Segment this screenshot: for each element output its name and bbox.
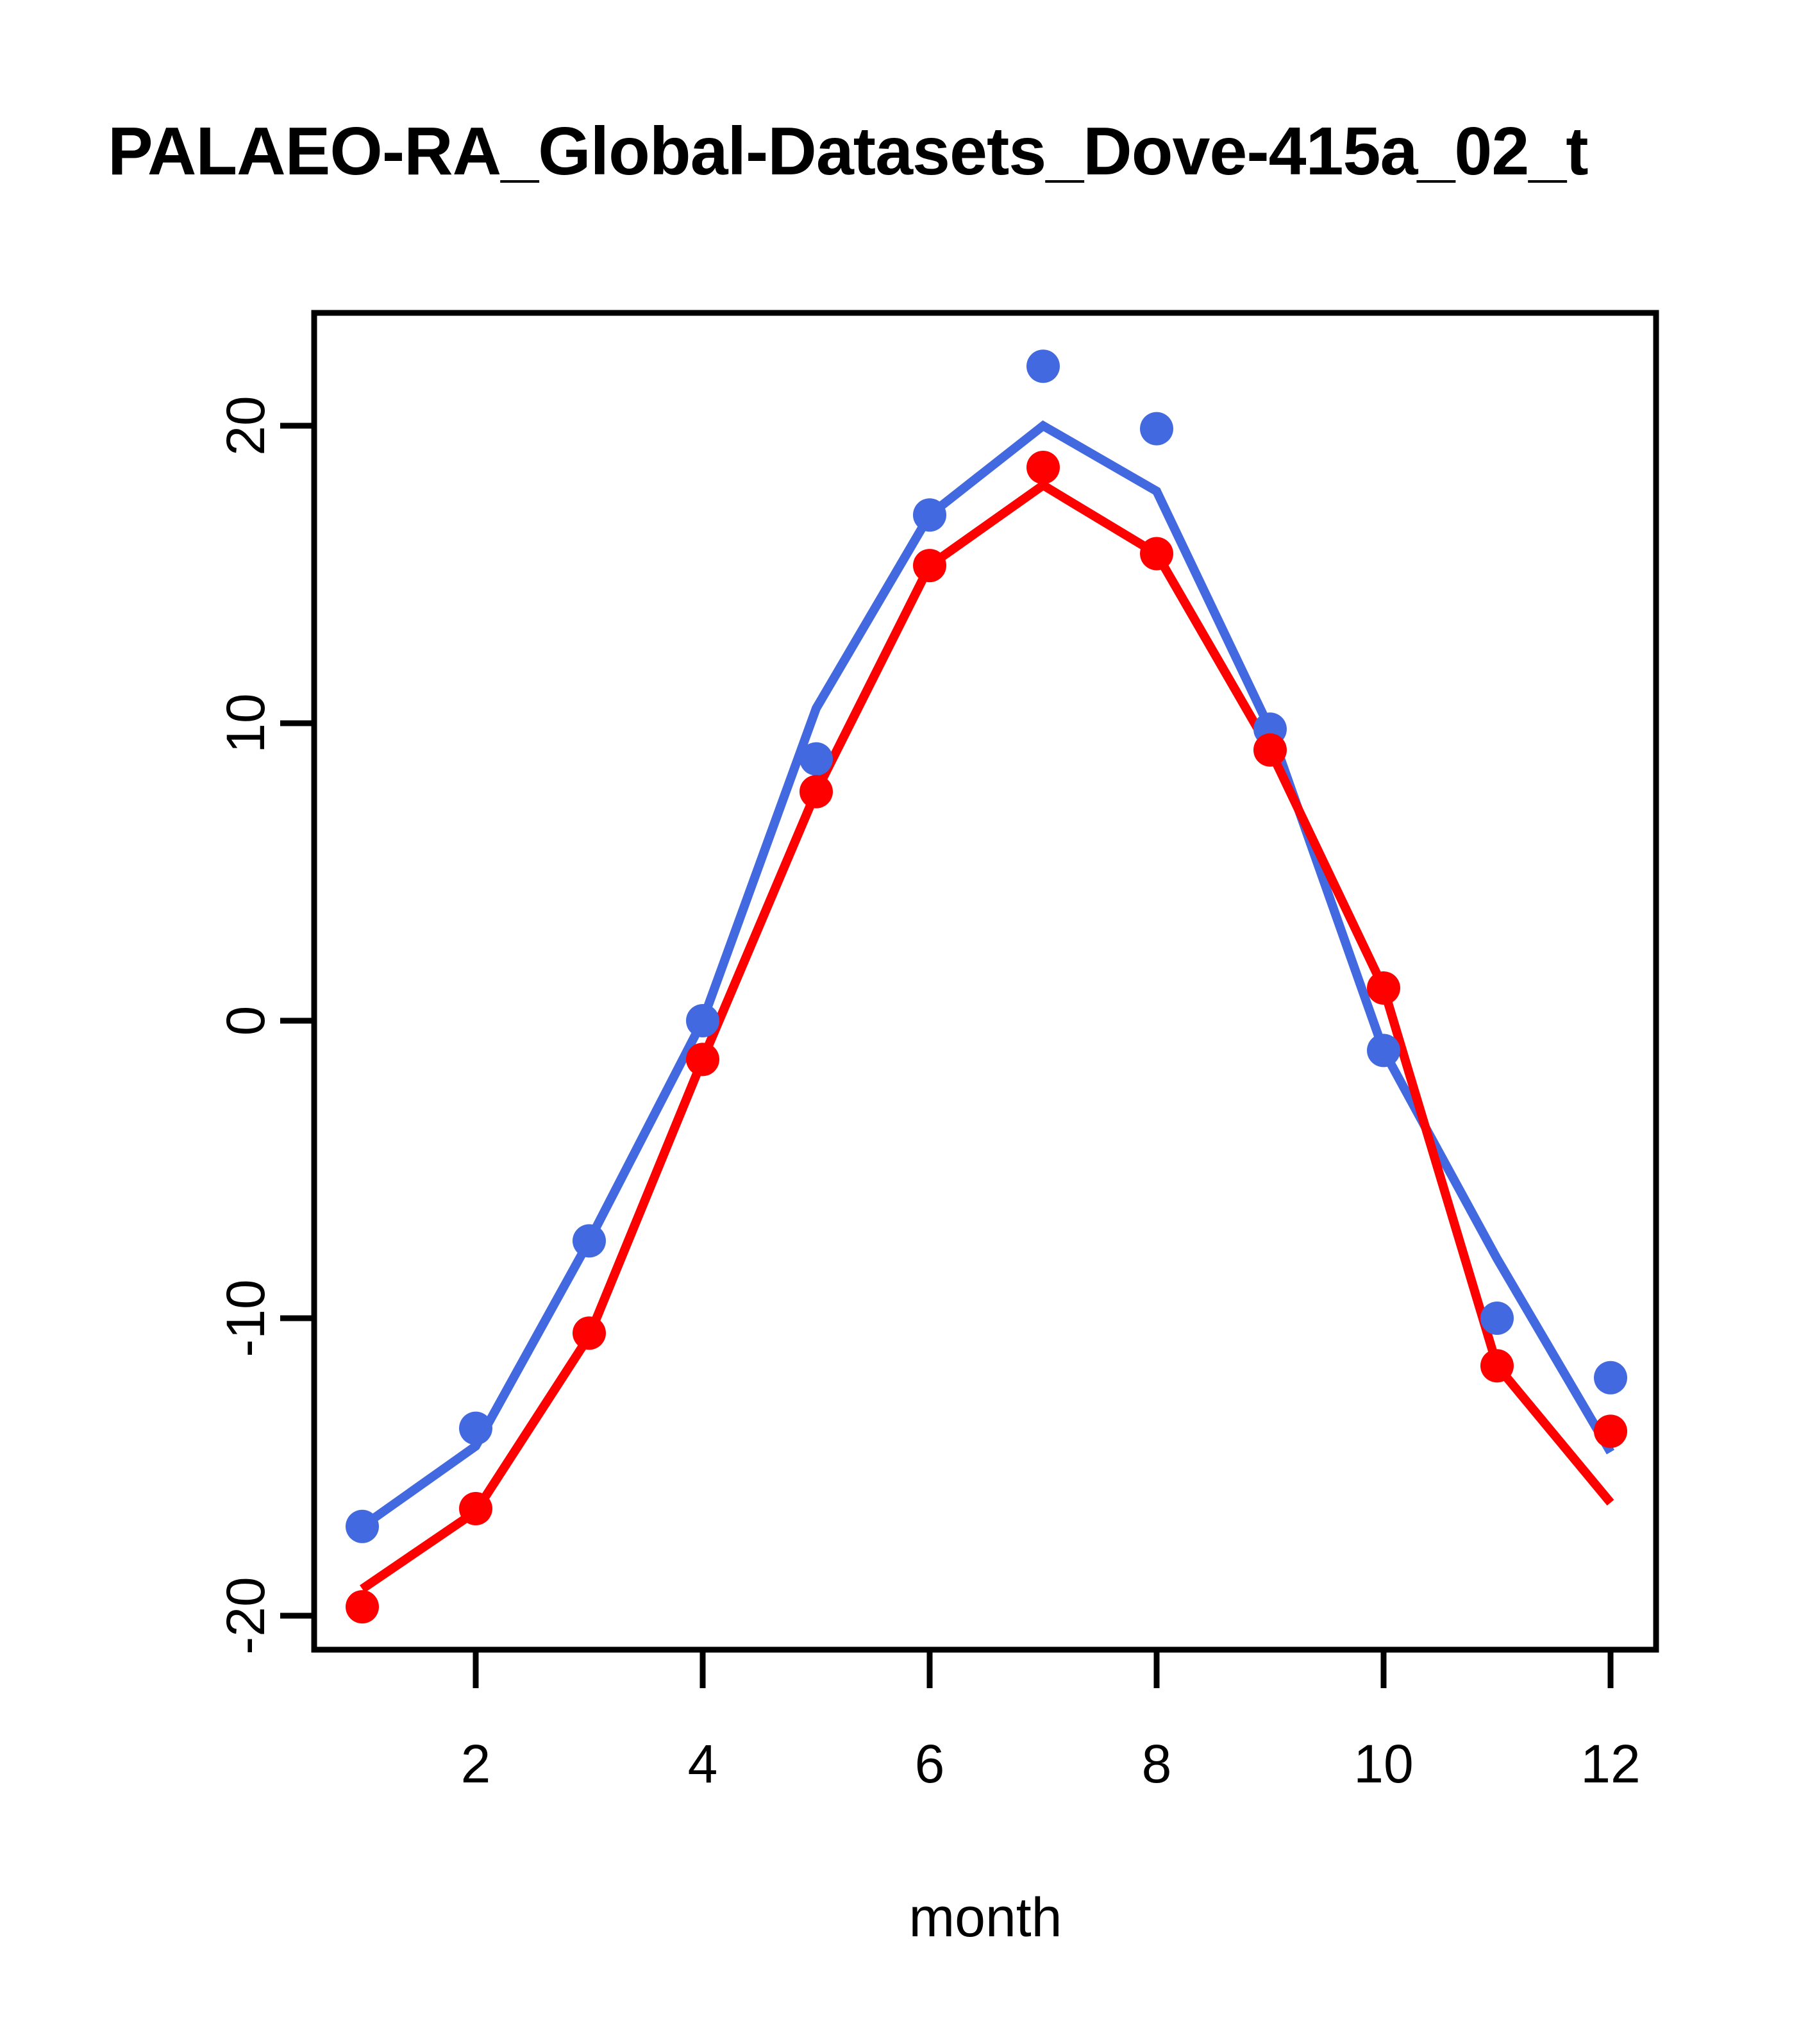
data-point (1480, 1302, 1514, 1335)
figure-canvas: PALAEO-RA_Global-Datasets_Dove-415a_02_t… (0, 0, 1817, 2044)
data-point (346, 1590, 379, 1623)
data-point (1140, 537, 1173, 571)
series-lines-group (362, 426, 1611, 1589)
data-point (800, 742, 833, 776)
x-axis-title: month (908, 1887, 1062, 1948)
data-point (1253, 733, 1287, 767)
data-point (459, 1412, 492, 1445)
y-tick-label: 0 (215, 1006, 276, 1036)
x-axis-tick-labels: 2 4 6 8 10 12 (461, 1734, 1641, 1794)
y-tick-label: -20 (215, 1577, 276, 1654)
data-point (459, 1492, 492, 1525)
y-axis-ticks (280, 426, 314, 1616)
y-tick-label: -10 (215, 1279, 276, 1357)
series-line-blue-line (362, 426, 1611, 1527)
data-point (573, 1316, 606, 1350)
data-point (573, 1224, 606, 1257)
data-point (1367, 971, 1400, 1005)
x-tick-label: 2 (461, 1734, 491, 1794)
y-tick-label: 20 (215, 396, 276, 455)
x-tick-label: 6 (915, 1734, 945, 1794)
x-tick-label: 10 (1353, 1734, 1413, 1794)
data-point (913, 498, 946, 532)
data-point (1140, 412, 1173, 446)
x-tick-label: 12 (1580, 1734, 1640, 1794)
data-point (1367, 1034, 1400, 1067)
data-point (1594, 1414, 1627, 1448)
data-point (1026, 349, 1060, 383)
x-axis-ticks (476, 1650, 1611, 1688)
x-tick-label: 8 (1142, 1734, 1172, 1794)
data-point (686, 1004, 719, 1037)
y-tick-label: 10 (215, 693, 276, 753)
data-point (346, 1510, 379, 1543)
series-points-group (346, 349, 1627, 1623)
data-point (800, 775, 833, 808)
y-axis-tick-labels: 20 10 0 -10 -20 (215, 396, 276, 1654)
data-point (1594, 1361, 1627, 1395)
data-point (1480, 1349, 1514, 1382)
data-point (686, 1043, 719, 1076)
x-tick-label: 4 (688, 1734, 718, 1794)
series-line-red-line (362, 485, 1611, 1589)
plot-area: 20 10 0 -10 -20 2 4 6 8 10 12 month (0, 0, 1817, 2044)
data-point (1026, 451, 1060, 484)
data-point (913, 549, 946, 582)
